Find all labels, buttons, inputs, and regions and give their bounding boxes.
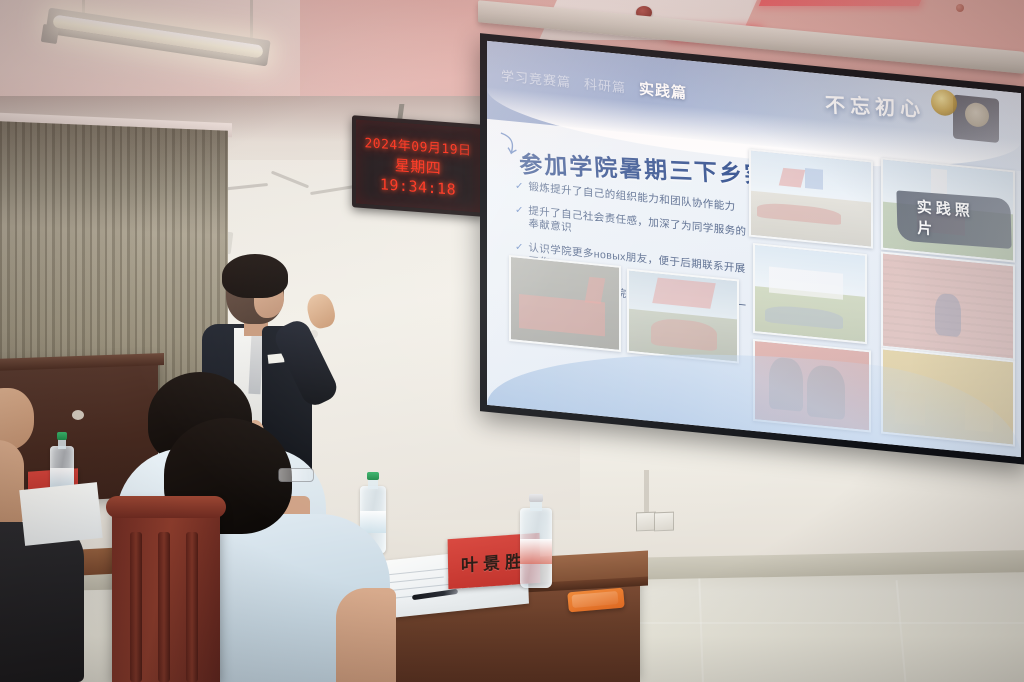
slide-photo	[627, 269, 739, 364]
slide-tab-research[interactable]: 科研篇	[584, 73, 626, 96]
audience-body	[0, 522, 84, 682]
wooden-chair-back[interactable]	[112, 500, 220, 682]
red-led-strip	[759, 0, 921, 6]
wall-switch-icon[interactable]	[636, 512, 656, 532]
slide-photo-section-label: 实践照片	[896, 190, 1011, 248]
eyeglasses-icon	[278, 468, 314, 482]
slide-photo	[881, 251, 1015, 360]
check-icon: ✓	[515, 204, 523, 218]
led-clock-sign: 2024年09月19日 星期四 19:34:18	[352, 115, 484, 217]
name-placard-text: 叶景胜	[461, 546, 527, 576]
presentation-slide: 不忘初心 学习竞赛篇 科研篇 实践篇 ⤵ 参加学院暑期三下乡实践活动 ✓ 锻炼提…	[487, 41, 1021, 457]
water-bottle	[520, 494, 552, 588]
wall-conduit	[644, 470, 649, 514]
wall-logo-icon	[956, 4, 964, 12]
wall-outlet-icon[interactable]	[654, 512, 674, 532]
check-icon: ✓	[515, 241, 523, 255]
projection-screen-surface: 不忘初心 学习竞赛篇 科研篇 实践篇 ⤵ 参加学院暑期三下乡实践活动 ✓ 锻炼提…	[487, 41, 1021, 457]
check-icon: ✓	[515, 180, 523, 194]
classroom-presentation-photo: 2024年09月19日 星期四 19:34:18 不忘初心 学习竞赛篇 科研篇 …	[0, 0, 1024, 682]
led-time-text: 19:34:18	[380, 175, 456, 199]
presenter-hand	[304, 291, 337, 330]
wooden-chair-crest[interactable]	[106, 496, 226, 518]
slide-photo	[509, 255, 621, 352]
paper-sheet	[19, 482, 102, 546]
presenter-hair	[222, 254, 288, 298]
slide-photo	[753, 243, 867, 344]
led-date-text: 2024年09月19日	[364, 132, 471, 159]
slide-photo	[749, 149, 873, 249]
audience-arm	[336, 588, 396, 682]
led-weekday-text: 星期四	[395, 154, 442, 178]
slide-banner-text: 不忘初心	[824, 89, 925, 123]
projection-screen: 不忘初心 学习竞赛篇 科研篇 实践篇 ⤵ 参加学院暑期三下乡实践活动 ✓ 锻炼提…	[480, 33, 1024, 465]
